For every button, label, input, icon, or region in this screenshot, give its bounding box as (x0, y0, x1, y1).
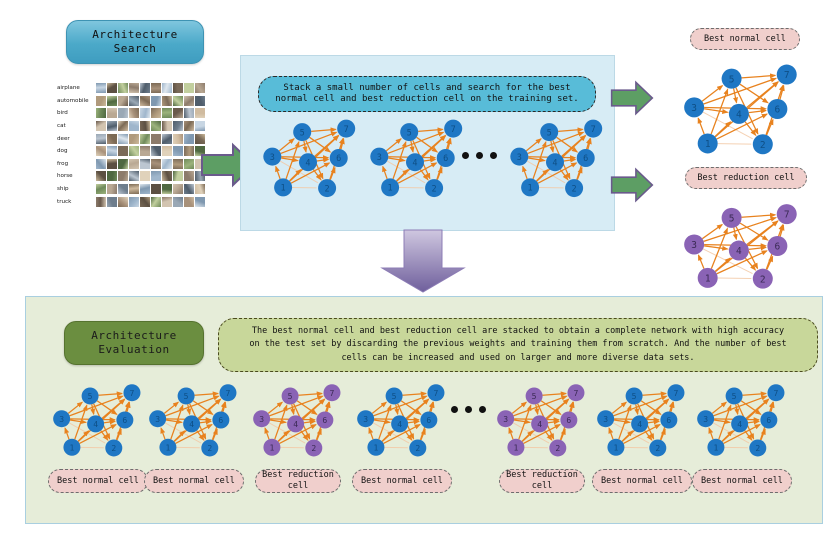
cifar-thumbnail (96, 121, 106, 131)
cell-graph-edge (749, 247, 766, 249)
cifar-thumbnail (195, 197, 205, 207)
cell-graph-node-label: 5 (300, 128, 305, 138)
cifar-thumbnail (107, 96, 117, 106)
cell-graph-node-label: 3 (691, 240, 697, 251)
cell-graph-node-label: 3 (270, 153, 275, 163)
cifar-thumbnail (184, 134, 194, 144)
cell-graph-edge (745, 122, 756, 135)
cell-graph-node: 4 (299, 153, 317, 171)
cifar-thumbnail-strip (96, 171, 205, 181)
cell-graph-edge (564, 159, 575, 161)
cifar-thumbnail (96, 134, 106, 144)
cell-graph-node-label: 7 (451, 125, 456, 135)
search-ellipsis (462, 152, 497, 159)
cell-graph-edge (698, 255, 703, 269)
cifar-thumbnail (151, 184, 161, 194)
cifar-class-label: dog (55, 148, 96, 154)
cell-graph-edge (411, 141, 413, 152)
cell-graph-node-label: 6 (774, 105, 780, 116)
cifar-thumbnail (129, 184, 139, 194)
cifar-thumbnail (140, 96, 150, 106)
cell-graph-edge (704, 246, 727, 249)
best-normal-cell-label: Best normal cell (690, 28, 800, 50)
cifar-thumbnail (118, 96, 128, 106)
cell-graph-node: 6 (330, 149, 348, 167)
cifar-class-label: truck (55, 199, 96, 205)
cifar-thumbnail (184, 121, 194, 131)
cell-graph-node-label: 6 (774, 242, 780, 253)
cifar-class-label: airplane (55, 85, 96, 91)
cifar-thumbnail (184, 171, 194, 181)
cell-graph-node: 6 (767, 99, 787, 119)
cell-graph-reduction: 1234567 (678, 196, 806, 296)
cell-graph-node: 6 (437, 149, 455, 167)
cell-graph-edge (558, 129, 583, 131)
cifar-thumbnail (184, 146, 194, 156)
cifar-thumbnail (118, 108, 128, 118)
cifar-thumbnail (151, 134, 161, 144)
cifar-class-label: frog (55, 161, 96, 167)
cifar-thumbnail (184, 108, 194, 118)
cell-graph-node-label: 1 (388, 184, 393, 194)
cell-graph-node: 5 (722, 208, 742, 228)
cifar-class-label: cat (55, 123, 96, 129)
cell-graph-node-label: 4 (305, 158, 310, 168)
cifar-thumbnail (162, 121, 172, 131)
cifar-thumbnail (195, 121, 205, 131)
cell-graph-node: 3 (263, 148, 281, 166)
arrow-to-best-reduction-cell (610, 167, 654, 207)
cell-graph-node-label: 4 (552, 158, 557, 168)
cifar10-dataset-grid: airplaneautomobilebirdcatdeerdogfroghors… (55, 82, 205, 208)
cell-graph-edge (734, 88, 737, 102)
cell-graph-node-label: 2 (760, 140, 766, 151)
cell-graph-node: 4 (729, 241, 749, 261)
cifar-thumbnail (118, 159, 128, 169)
cell-graph-normal: 1234567 (505, 112, 610, 204)
cifar-thumbnail (162, 146, 172, 156)
cifar-thumbnail (129, 171, 139, 181)
cifar-thumbnail (151, 83, 161, 93)
cifar-class-row: deer (55, 132, 205, 145)
cifar-thumbnail (129, 146, 139, 156)
cifar-thumbnail (173, 108, 183, 118)
cifar-thumbnail (184, 83, 194, 93)
cifar-thumbnail (129, 108, 139, 118)
cifar-thumbnail (107, 159, 117, 169)
arrow-right-icon (610, 167, 654, 203)
cell-graph-edge (742, 215, 776, 217)
cifar-thumbnail (129, 96, 139, 106)
cifar-thumbnail (140, 134, 150, 144)
cell-graph-normal: 1234567 (258, 112, 363, 204)
cell-graph-node-label: 2 (760, 274, 766, 285)
cifar-thumbnail (96, 96, 106, 106)
cell-graph-node-label: 7 (784, 210, 790, 221)
cifar-thumbnail (96, 159, 106, 169)
ellipsis-dot (479, 406, 486, 413)
cell-graph-node: 2 (565, 179, 583, 197)
cifar-thumbnail (184, 159, 194, 169)
cifar-thumbnail-strip (96, 121, 205, 131)
cell-graph-node-label: 6 (336, 154, 341, 164)
cifar-thumbnail (195, 83, 205, 93)
cifar-thumbnail (173, 121, 183, 131)
cifar-thumbnail (173, 146, 183, 156)
cifar-thumbnail (140, 184, 150, 194)
cifar-thumbnail (140, 83, 150, 93)
architecture-evaluation-title-line2: Evaluation (91, 343, 176, 357)
cell-graph-node: 2 (753, 269, 773, 289)
cell-graph-node-label: 2 (325, 184, 330, 194)
cifar-thumbnail (96, 171, 106, 181)
search-stacked-cell-1: 1234567 (258, 112, 363, 208)
cifar-thumbnail (162, 134, 172, 144)
cell-graph-node-label: 3 (691, 103, 697, 114)
cifar-thumbnail (151, 121, 161, 131)
cifar-thumbnail-strip (96, 83, 205, 93)
cell-graph-node-label: 6 (443, 154, 448, 164)
cifar-class-label: bird (55, 110, 96, 116)
cifar-thumbnail (195, 96, 205, 106)
cifar-thumbnail (162, 108, 172, 118)
cifar-thumbnail (195, 108, 205, 118)
cifar-thumbnail (118, 83, 128, 93)
cifar-class-row: automobile (55, 95, 205, 108)
cell-graph-node: 2 (753, 134, 773, 154)
cell-graph-edge (551, 141, 553, 152)
cell-graph-node: 3 (370, 148, 388, 166)
cell-graph-node: 5 (400, 123, 418, 141)
arrow-down-icon (378, 228, 468, 294)
evaluation-description-note: The best normal cell and best reduction … (218, 318, 818, 372)
cifar-thumbnail (151, 197, 161, 207)
eval-note-line1: The best normal cell and best reduction … (249, 325, 786, 338)
cell-graph-edge (528, 158, 544, 161)
cell-graph-node: 1 (381, 178, 399, 196)
cell-graph-node-label: 1 (281, 184, 286, 194)
cell-graph-node: 2 (318, 179, 336, 197)
architecture-evaluation-title: Architecture Evaluation (64, 321, 204, 365)
cell-graph-node: 6 (767, 236, 787, 256)
cell-graph-node-label: 7 (784, 70, 790, 81)
cifar-thumbnail (129, 134, 139, 144)
cell-graph-edge (304, 141, 306, 152)
cifar-thumbnail (107, 121, 117, 131)
cifar-thumbnail (173, 96, 183, 106)
cifar-thumbnail (129, 83, 139, 93)
cell-graph-node: 2 (425, 179, 443, 197)
cifar-thumbnail (162, 83, 172, 93)
cell-graph-node: 7 (337, 120, 355, 138)
cifar-thumbnail (96, 83, 106, 93)
cifar-thumbnail (151, 171, 161, 181)
cifar-thumbnail (140, 171, 150, 181)
ellipsis-dot (451, 406, 458, 413)
cifar-thumbnail-strip (96, 146, 205, 156)
cifar-thumbnail (162, 96, 172, 106)
cell-graph-node: 7 (584, 120, 602, 138)
architecture-search-title-line1: Architecture (92, 28, 177, 42)
cifar-thumbnail (151, 96, 161, 106)
cell-graph-edge (704, 109, 727, 112)
arrow-search-to-evaluation (378, 228, 468, 298)
cell-graph-normal: 1234567 (678, 56, 806, 162)
best-normal-cell-graph: 1234567 (678, 56, 806, 166)
cifar-thumbnail (107, 134, 117, 144)
cifar-class-label: horse (55, 173, 96, 179)
cifar-thumbnail (107, 184, 117, 194)
cell-graph-edge (388, 158, 404, 161)
cifar-class-row: ship (55, 183, 205, 196)
cifar-thumbnail (118, 121, 128, 131)
cell-graph-node: 5 (293, 123, 311, 141)
cell-graph-normal: 1234567 (365, 112, 470, 204)
cell-graph-edge (281, 158, 297, 161)
cifar-thumbnail (140, 197, 150, 207)
cifar-thumbnail (107, 171, 117, 181)
cell-graph-node-label: 5 (729, 74, 735, 85)
cifar-thumbnail (184, 197, 194, 207)
cell-graph-node: 4 (406, 153, 424, 171)
cifar-thumbnail-strip (96, 108, 205, 118)
cell-graph-edge (767, 120, 773, 135)
cifar-thumbnail-strip (96, 134, 205, 144)
cell-graph-node: 3 (684, 97, 704, 117)
cell-graph-node-label: 4 (412, 158, 417, 168)
ellipsis-dot (476, 152, 483, 159)
cell-graph-node: 5 (722, 69, 742, 89)
cell-graph-edge (718, 144, 752, 145)
cell-graph-node: 1 (698, 268, 718, 288)
cifar-thumbnail (173, 184, 183, 194)
cell-graph-node-label: 1 (528, 184, 533, 194)
cell-graph-edge (418, 129, 443, 131)
cifar-thumbnail (151, 108, 161, 118)
cell-graph-node: 3 (684, 234, 704, 254)
cifar-thumbnail (184, 184, 194, 194)
cifar-thumbnail (162, 159, 172, 169)
cell-graph-node: 1 (521, 178, 539, 196)
cifar-thumbnail (173, 83, 183, 93)
cifar-thumbnail-strip (96, 159, 205, 169)
search-stacked-cell-2: 1234567 (365, 112, 470, 208)
cell-graph-node-label: 5 (547, 128, 552, 138)
cell-graph-node-label: 4 (736, 246, 742, 257)
cifar-thumbnail (173, 159, 183, 169)
cifar-thumbnail (151, 159, 161, 169)
cell-graph-node: 5 (540, 123, 558, 141)
cifar-thumbnail (96, 108, 106, 118)
cifar-thumbnail (107, 146, 117, 156)
cifar-thumbnail (96, 197, 106, 207)
cifar-thumbnail (140, 159, 150, 169)
cell-graph-node: 4 (546, 153, 564, 171)
cifar-thumbnail (118, 134, 128, 144)
cifar-thumbnail (129, 197, 139, 207)
cifar-thumbnail (140, 108, 150, 118)
cifar-class-row: airplane (55, 82, 205, 95)
ellipsis-dot (462, 152, 469, 159)
best-reduction-cell-graph: 1234567 (678, 196, 806, 300)
evaluation-ellipsis (451, 406, 486, 413)
cell-graph-edge (749, 110, 766, 112)
cell-graph-node-label: 4 (736, 110, 742, 121)
cifar-thumbnail (107, 197, 117, 207)
ellipsis-dot (465, 406, 472, 413)
best-reduction-cell-label: Best reduction cell (685, 167, 807, 189)
cell-graph-node: 3 (510, 148, 528, 166)
cifar-class-label: automobile (55, 98, 96, 104)
cell-graph-edge (311, 129, 336, 131)
cifar-thumbnail (96, 184, 106, 194)
cifar-thumbnail (96, 146, 106, 156)
eval-note-line2: on the test set by discarding the previo… (249, 338, 786, 351)
cifar-thumbnail (107, 83, 117, 93)
cell-graph-edge (317, 159, 328, 161)
search-stacked-cell-3: 1234567 (505, 112, 610, 208)
cell-graph-node: 1 (274, 178, 292, 196)
search-description-note: Stack a small number of cells and search… (258, 76, 596, 112)
cell-graph-node: 7 (444, 120, 462, 138)
search-note-line2: normal cell and best reduction cell on t… (275, 94, 578, 105)
cell-graph-node-label: 7 (344, 125, 349, 135)
cifar-thumbnail (118, 146, 128, 156)
cifar-class-row: bird (55, 107, 205, 120)
cell-graph-node-label: 5 (407, 128, 412, 138)
cell-graph-edge (698, 118, 704, 134)
cifar-thumbnail (173, 134, 183, 144)
cell-graph-node-label: 5 (729, 213, 735, 224)
cifar-thumbnail-strip (96, 197, 205, 207)
arrow-right-icon (610, 80, 654, 116)
cifar-thumbnail-strip (96, 184, 205, 194)
cell-graph-node-label: 3 (377, 153, 382, 163)
cell-graph-edge (276, 167, 280, 179)
cifar-thumbnail (129, 121, 139, 131)
architecture-search-title-line2: Search (92, 42, 177, 56)
cifar-thumbnail (118, 184, 128, 194)
cell-graph-edge (742, 75, 776, 78)
cifar-thumbnail-strip (96, 96, 205, 106)
cell-graph-node: 7 (777, 65, 797, 85)
cifar-class-row: dog (55, 145, 205, 158)
cell-graph-node-label: 6 (583, 154, 588, 164)
cell-graph-edge (523, 167, 527, 179)
cell-graph-node-label: 1 (705, 274, 711, 285)
ellipsis-dot (490, 152, 497, 159)
cifar-class-label: ship (55, 186, 96, 192)
cell-graph-node-label: 2 (572, 184, 577, 194)
search-note-line1: Stack a small number of cells and search… (275, 83, 578, 94)
cifar-class-label: deer (55, 136, 96, 142)
cifar-thumbnail (140, 121, 150, 131)
cell-graph-node: 4 (729, 104, 749, 124)
cifar-thumbnail (162, 171, 172, 181)
cell-graph-node: 7 (777, 204, 797, 224)
architecture-evaluation-title-line1: Architecture (91, 329, 176, 343)
cell-graph-edge (383, 167, 387, 179)
cifar-class-row: truck (55, 195, 205, 208)
cell-graph-node: 1 (698, 133, 718, 153)
cifar-class-row: cat (55, 120, 205, 133)
cifar-thumbnail (118, 171, 128, 181)
cell-graph-edge (424, 159, 435, 161)
cell-graph-node: 6 (577, 149, 595, 167)
cell-graph-edge (734, 228, 737, 240)
cifar-thumbnail (129, 159, 139, 169)
cifar-thumbnail (184, 96, 194, 106)
cifar-thumbnail (140, 146, 150, 156)
cell-graph-node-label: 1 (705, 139, 711, 150)
cifar-thumbnail (162, 184, 172, 194)
cifar-thumbnail (118, 197, 128, 207)
architecture-search-title: Architecture Search (66, 20, 204, 64)
cifar-thumbnail (151, 146, 161, 156)
cell-graph-node-label: 3 (517, 153, 522, 163)
cifar-thumbnail (173, 171, 183, 181)
cifar-thumbnail (173, 197, 183, 207)
cell-graph-node-label: 7 (591, 125, 596, 135)
eval-note-line3: cells can be increased and used on large… (249, 352, 786, 365)
cifar-class-row: frog (55, 158, 205, 171)
cifar-thumbnail (162, 197, 172, 207)
cifar-class-row: horse (55, 170, 205, 183)
cifar-thumbnail (107, 108, 117, 118)
cell-graph-node-label: 2 (432, 184, 437, 194)
arrow-to-best-normal-cell (610, 80, 654, 120)
